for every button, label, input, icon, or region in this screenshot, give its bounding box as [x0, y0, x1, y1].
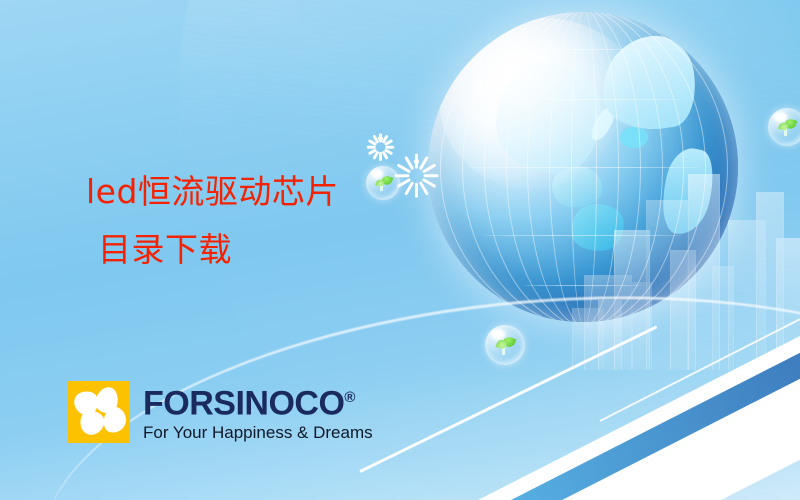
- logo-text-block: FORSINOCO® For Your Happiness & Dreams: [143, 381, 373, 443]
- daisy-petal: [379, 152, 382, 161]
- brand-name: FORSINOCO®: [143, 381, 373, 420]
- bubble-small-upper: [366, 166, 400, 200]
- daisy-core: [414, 159, 419, 164]
- brand-logo[interactable]: FORSINOCO® For Your Happiness & Dreams: [68, 381, 373, 443]
- brand-tagline: For Your Happiness & Dreams: [143, 423, 373, 443]
- daisy-small: [370, 128, 390, 148]
- registered-trademark-icon: ®: [344, 389, 355, 406]
- daisy-petal: [366, 146, 375, 149]
- bubble-sheen: [491, 329, 505, 339]
- page-title: led恒流驱动芯片 目录下载: [86, 163, 339, 279]
- bubble-right-edge: [768, 108, 800, 146]
- bubble-mid-lower: [485, 325, 525, 365]
- headline-line-1: led恒流驱动芯片: [86, 163, 339, 221]
- daisy-petal: [415, 183, 418, 198]
- daisy-petal: [394, 174, 409, 177]
- bubble-sheen: [371, 169, 383, 178]
- daisy-large: [400, 145, 432, 177]
- promo-banner: led恒流驱动芯片 目录下载 FORSINOCO® For Your Happi…: [0, 0, 800, 500]
- forsinoco-pinwheel-icon: [68, 381, 130, 443]
- brand-wordmark: FORSINOCO: [143, 384, 344, 422]
- headline-line-2: 目录下载: [98, 221, 339, 279]
- daisy-core: [378, 136, 383, 141]
- bubble-plant-leaf: [496, 339, 508, 351]
- daisy-petal: [423, 174, 438, 177]
